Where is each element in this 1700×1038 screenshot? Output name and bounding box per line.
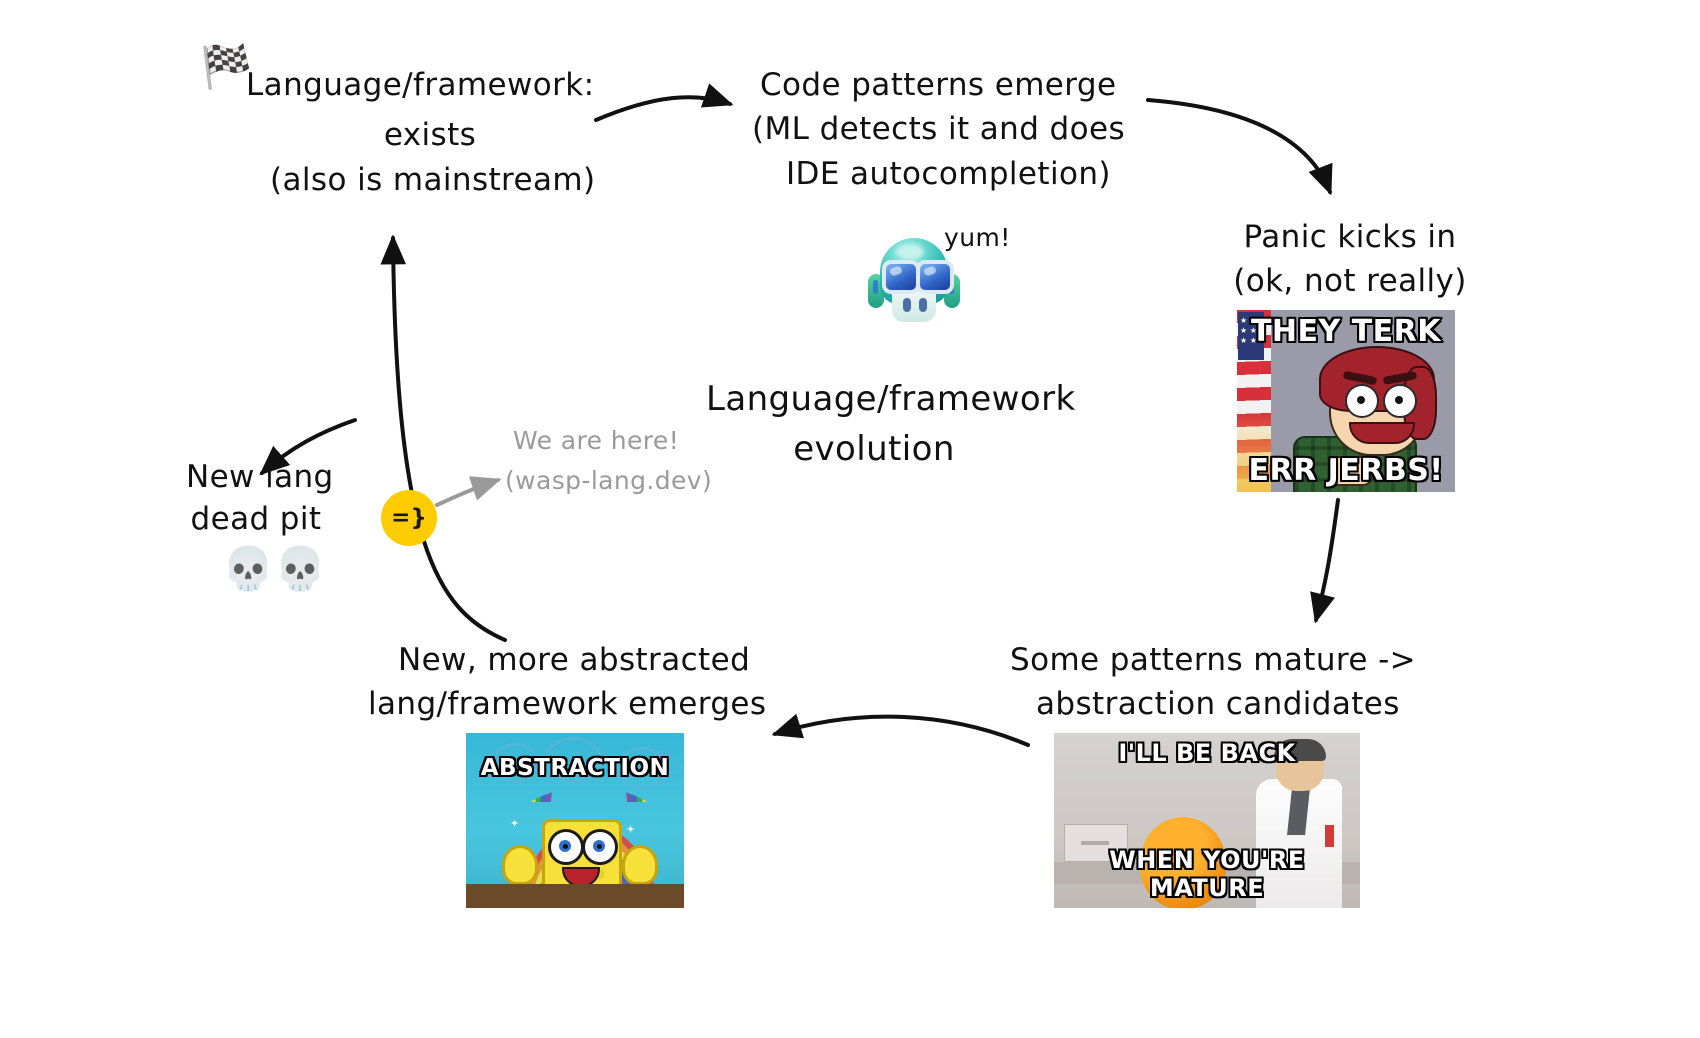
node-panic-line2: (ok, not really) (1228, 262, 1472, 302)
node-emerges-line1: New, more abstracted (398, 641, 750, 681)
spongebob-eye-left (548, 829, 584, 865)
robot-vent-left (903, 298, 911, 312)
node-exists-line1: Language/framework: (246, 66, 594, 106)
robot-dome-highlight (896, 244, 924, 260)
sparkle-3: ✦ (626, 823, 635, 836)
robot-vent-right (919, 298, 927, 312)
arrow-mature-to-emerges (775, 717, 1028, 745)
wasp-position-node[interactable]: =} (381, 490, 437, 546)
diagram-title-line1: Language/framework (706, 378, 1076, 422)
yum-label: yum! (944, 222, 1011, 254)
character-eye-right (1383, 384, 1417, 418)
node-deadpit-line2: dead pit (186, 500, 326, 540)
node-mature-line1: Some patterns mature -> (1010, 641, 1416, 681)
arrow-patterns-to-panic (1148, 100, 1330, 192)
spongebob-hand-left (502, 845, 538, 885)
node-patterns-line2: (ML detects it and does (752, 110, 1125, 150)
meme-caption-top: I'LL BE BACK (1054, 739, 1360, 767)
diagram-title-line2: evolution (706, 428, 1042, 472)
character-moustache (1349, 422, 1415, 444)
arrow-panic-to-mature (1316, 500, 1338, 620)
node-patterns-line1: Code patterns emerge (760, 66, 1116, 106)
pocket-badge (1325, 825, 1334, 847)
node-exists-line2: exists (270, 116, 590, 156)
we-are-here-line2: (wasp-lang.dev) (505, 465, 712, 497)
diagram-canvas: 🏁 Language/framework: exists (also is ma… (0, 0, 1700, 1038)
meme-caption-bottom: WHEN YOU'RE MATURE (1054, 846, 1360, 902)
robot-goggle-right (916, 260, 954, 294)
node-emerges-line2: lang/framework emerges (368, 685, 766, 725)
we-are-here-line1: We are here! (513, 425, 679, 457)
robot-goggle-left (882, 260, 920, 294)
meme-caption-top: ABSTRACTION (466, 755, 684, 781)
ill-be-back-when-youre-mature-meme: I'LL BE BACK WHEN YOU'RE MATURE (1054, 733, 1360, 908)
arrow-we-are-here (437, 480, 498, 505)
node-patterns-line3: IDE autocompletion) (786, 155, 1111, 195)
node-mature-line2: abstraction candidates (1036, 685, 1400, 725)
character-eye-left (1345, 384, 1379, 418)
node-exists-line3: (also is mainstream) (270, 161, 590, 201)
chequered-flag-icon: 🏁 (200, 46, 252, 88)
node-deadpit-line1: New lang (186, 458, 326, 498)
spongebob-eye-right (582, 829, 618, 865)
sparkle-1: ✦ (510, 817, 519, 830)
arrow-emerges-to-exists (393, 238, 505, 640)
node-panic-line1: Panic kicks in (1238, 218, 1462, 258)
table-edge (466, 884, 684, 908)
spongebob-hand-right (622, 845, 658, 885)
they-terk-err-jerbs-meme: THEY TERK ERR JERBS! (1237, 310, 1455, 492)
wasp-node-label: =} (391, 505, 427, 531)
meme-caption-bottom: ERR JERBS! (1237, 453, 1455, 488)
skull-icons: 💀💀 (222, 548, 327, 590)
meme-caption-top: THEY TERK (1237, 314, 1455, 349)
arrow-exists-to-patterns (596, 97, 730, 120)
spongebob-imagination-meme: ✦ ✦ ✦ ✦ ABSTRACTION (466, 733, 684, 908)
